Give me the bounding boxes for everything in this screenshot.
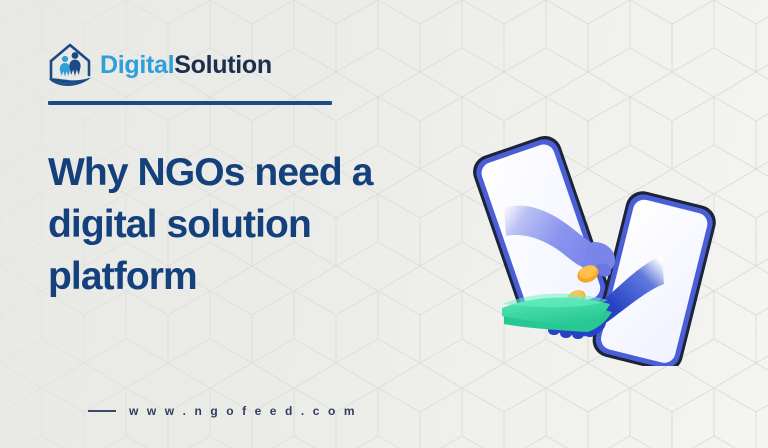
logo-divider-rule: [48, 101, 332, 105]
page-title: Why NGOs need a digital solution platfor…: [48, 147, 448, 303]
house-with-people-logo-icon: [44, 38, 96, 90]
blog-header-banner: DigitalSolution Why NGOs need a digital …: [0, 0, 768, 448]
logo-word-solution: Solution: [174, 51, 272, 79]
headline-line-2: digital solution: [48, 199, 448, 251]
cash-stack: [502, 294, 612, 332]
illustration-phones-money-exchange: [448, 104, 738, 366]
footer-rule: [88, 410, 116, 412]
footer-url-text: w w w . n g o f e e d . c o m: [129, 404, 357, 418]
logo-word-digital: Digital: [100, 51, 174, 79]
site-logo[interactable]: DigitalSolution: [44, 38, 272, 90]
headline-line-3: platform: [48, 251, 448, 303]
logo-wordmark: DigitalSolution: [100, 53, 272, 78]
footer-website-url[interactable]: w w w . n g o f e e d . c o m: [88, 404, 357, 418]
headline-line-1: Why NGOs need a: [48, 147, 448, 199]
